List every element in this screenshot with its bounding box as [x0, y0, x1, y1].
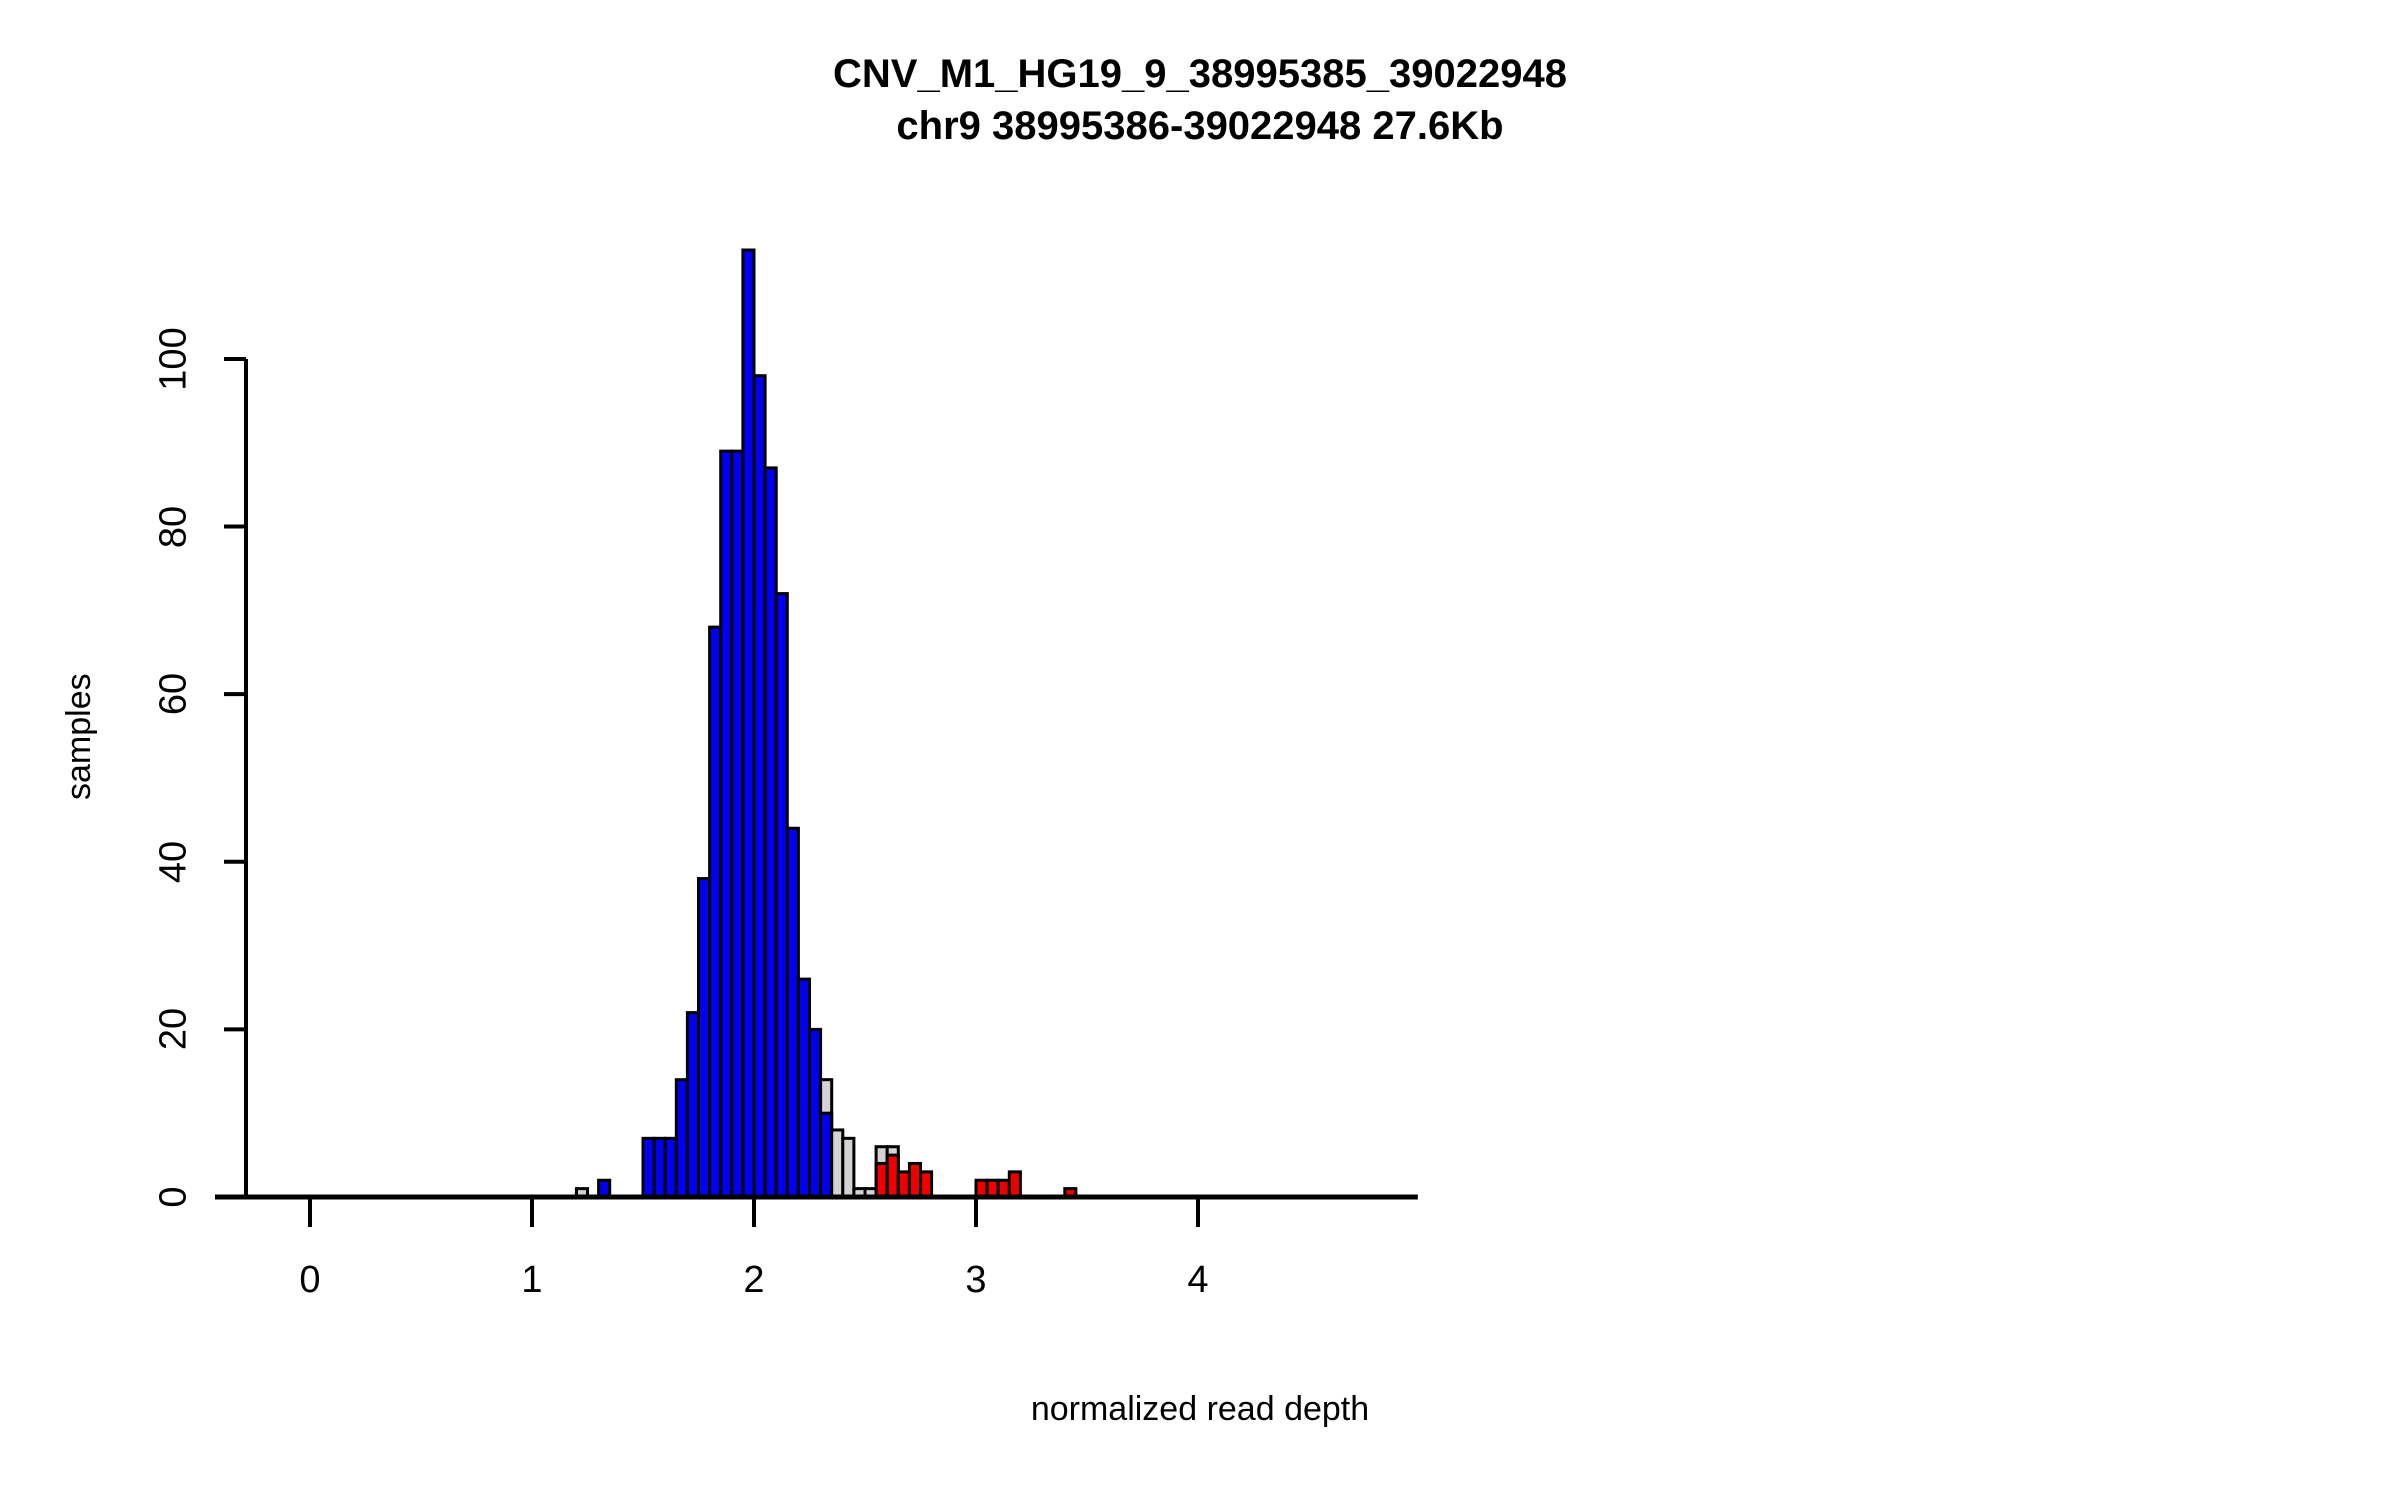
y-axis-tick-label: 60	[153, 673, 196, 715]
histogram-bar	[921, 1172, 932, 1197]
histogram-bar	[776, 594, 787, 1197]
histogram-bar	[987, 1180, 998, 1197]
histogram-bar	[798, 979, 809, 1197]
y-axis-title: samples	[60, 673, 99, 800]
histogram-bar	[654, 1138, 665, 1197]
histogram-bar	[599, 1180, 610, 1197]
y-axis-tick-label: 20	[153, 1008, 196, 1050]
histogram-bar	[743, 250, 754, 1197]
histogram-bar	[976, 1180, 987, 1197]
histogram-bar	[1009, 1172, 1020, 1197]
histogram-bar	[687, 1013, 698, 1197]
y-axis-tick-label: 0	[153, 1186, 196, 1207]
chart-root: CNV_M1_HG19_9_38995385_39022948 chr9 389…	[0, 0, 2400, 1500]
histogram-bar	[898, 1172, 909, 1197]
histogram-bar	[721, 451, 732, 1197]
histogram-bar	[832, 1130, 843, 1197]
histogram-bar	[810, 1029, 821, 1197]
x-axis-tick-label: 3	[965, 1259, 986, 1302]
histogram-bar	[699, 879, 710, 1197]
histogram-bar-overlay	[821, 1113, 832, 1197]
histogram-bar	[732, 451, 743, 1197]
x-axis-tick-label: 0	[299, 1259, 320, 1302]
x-axis-title: normalized read depth	[0, 1390, 2400, 1429]
histogram-bar-overlay	[876, 1163, 887, 1197]
histogram-bar	[754, 376, 765, 1197]
x-axis-tick-label: 1	[521, 1259, 542, 1302]
histogram-bar	[643, 1138, 654, 1197]
histogram-bar	[843, 1138, 854, 1197]
histogram-bar	[765, 468, 776, 1197]
y-axis-tick-label: 80	[153, 505, 196, 547]
histogram-bar	[665, 1138, 676, 1197]
histogram-bar	[787, 828, 798, 1197]
y-axis-tick-label: 40	[153, 841, 196, 883]
y-axis-tick-label: 100	[153, 327, 196, 390]
histogram-bar	[676, 1080, 687, 1197]
x-axis-tick-label: 2	[743, 1259, 764, 1302]
histogram-bar	[998, 1180, 1009, 1197]
histogram-bar	[909, 1163, 920, 1197]
histogram-bar-overlay	[887, 1155, 898, 1197]
x-axis-tick-label: 4	[1187, 1259, 1208, 1302]
histogram-bar	[710, 627, 721, 1197]
